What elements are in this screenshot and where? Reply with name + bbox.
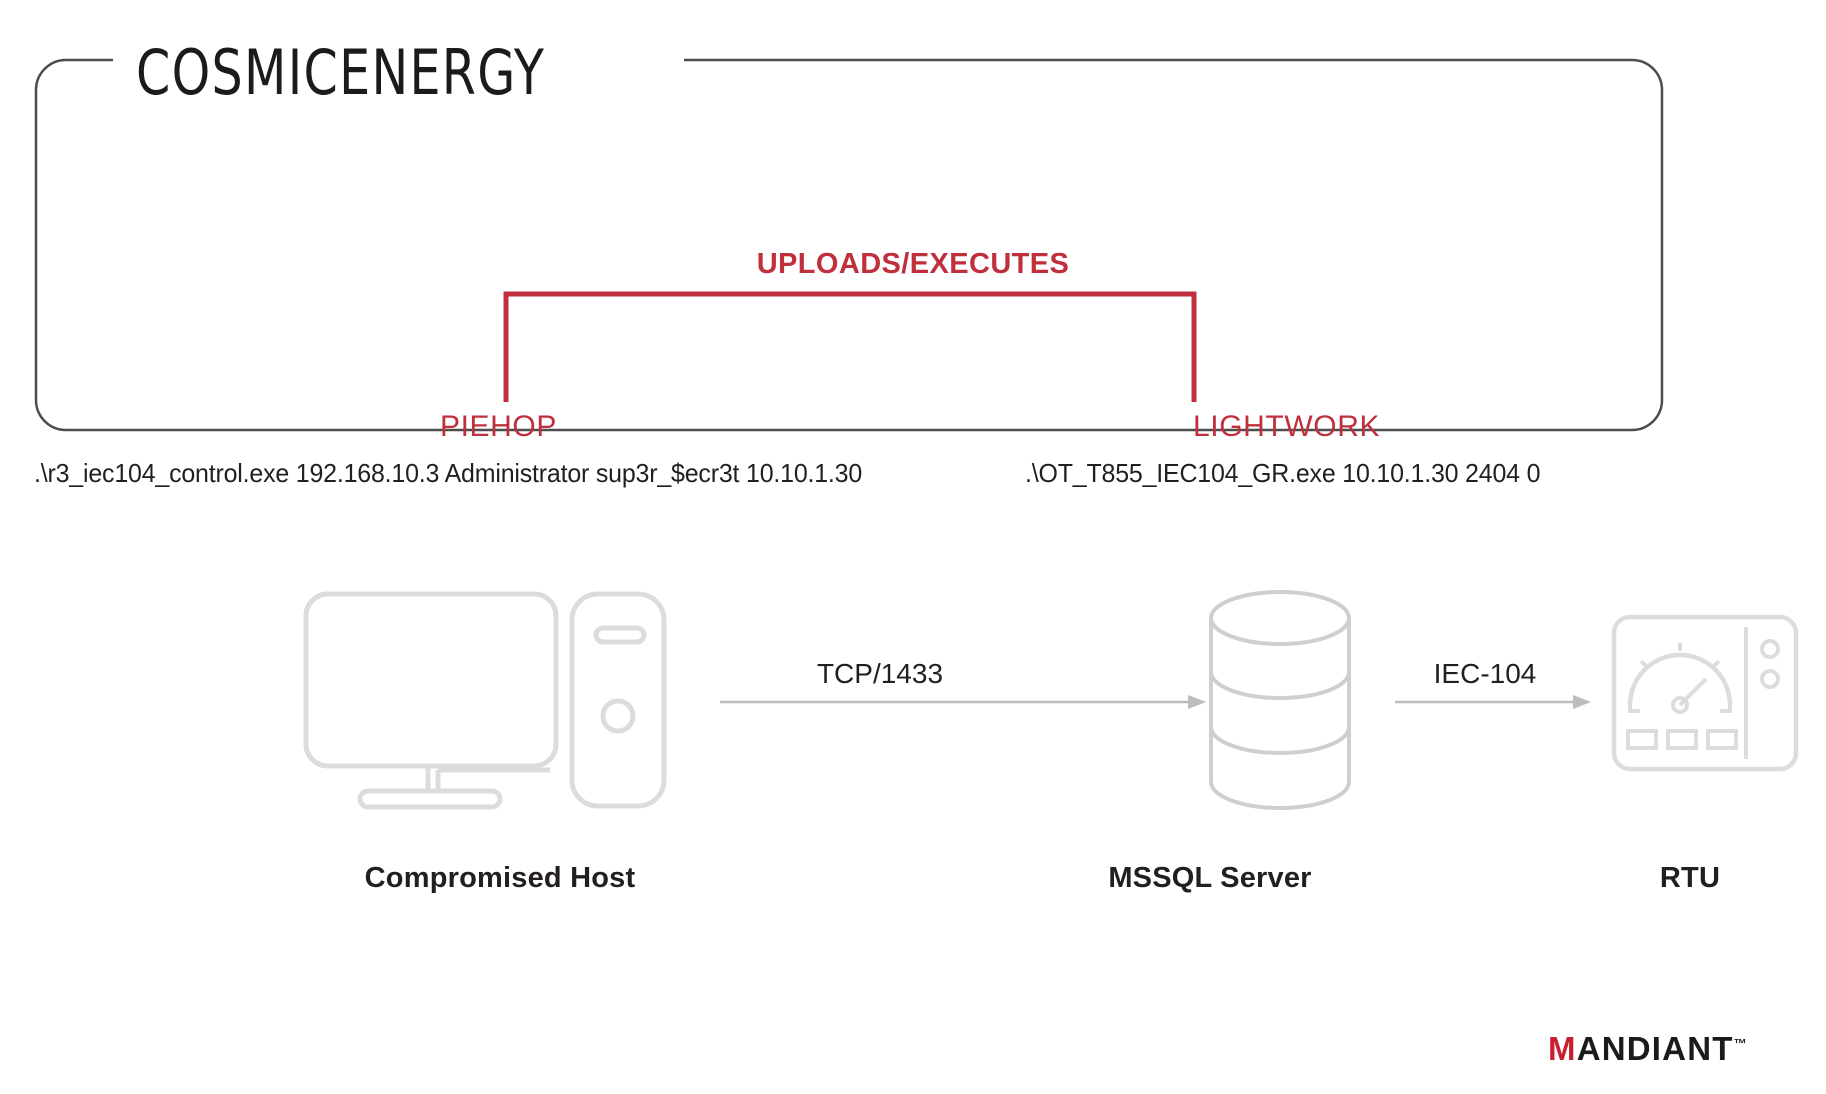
malware-label-piehop: PIEHOP xyxy=(440,410,557,444)
diagram-canvas: COSMICENERGY UPLOADS/EXECUTES PIEHOP LIG… xyxy=(0,0,1826,1094)
connector-db-to-rtu xyxy=(1395,690,1595,719)
arrow-right-icon xyxy=(1395,690,1595,714)
relationship-label: UPLOADS/EXECUTES xyxy=(0,248,1826,281)
desktop-computer-icon xyxy=(300,588,670,818)
mandiant-logo: MANDIANT™ xyxy=(1548,1030,1747,1068)
command-line-piehop: .\r3_iec104_control.exe 192.168.10.3 Adm… xyxy=(34,458,862,489)
rtu-gauge-glyph xyxy=(1610,613,1800,773)
mandiant-logo-mark: M xyxy=(1548,1030,1577,1067)
node-caption-compromised-host: Compromised Host xyxy=(180,862,820,895)
uploads-executes-bracket xyxy=(500,288,1200,413)
mandiant-logo-wordmark: ANDIANT xyxy=(1577,1030,1734,1067)
database-cylinder-glyph xyxy=(1205,588,1355,813)
connector-host-to-db xyxy=(720,690,1210,719)
page-title: COSMICENERGY xyxy=(136,36,545,109)
node-caption-rtu: RTU xyxy=(1570,862,1810,895)
arrow-right-icon xyxy=(720,690,1210,714)
gauge-panel-icon xyxy=(1610,613,1800,778)
node-caption-mssql-server: MSSQL Server xyxy=(1000,862,1420,895)
desktop-computer-glyph xyxy=(300,588,670,813)
malware-label-lightwork: LIGHTWORK xyxy=(1193,410,1380,444)
command-line-lightwork: .\OT_T855_IEC104_GR.exe 10.10.1.30 2404 … xyxy=(1025,458,1540,489)
database-cylinder-icon xyxy=(1205,588,1355,818)
trademark-icon: ™ xyxy=(1734,1036,1747,1051)
connector-label-tcp-1433: TCP/1433 xyxy=(720,658,1040,690)
connector-label-iec-104: IEC-104 xyxy=(1395,658,1575,690)
bracket-path-icon xyxy=(500,288,1200,408)
